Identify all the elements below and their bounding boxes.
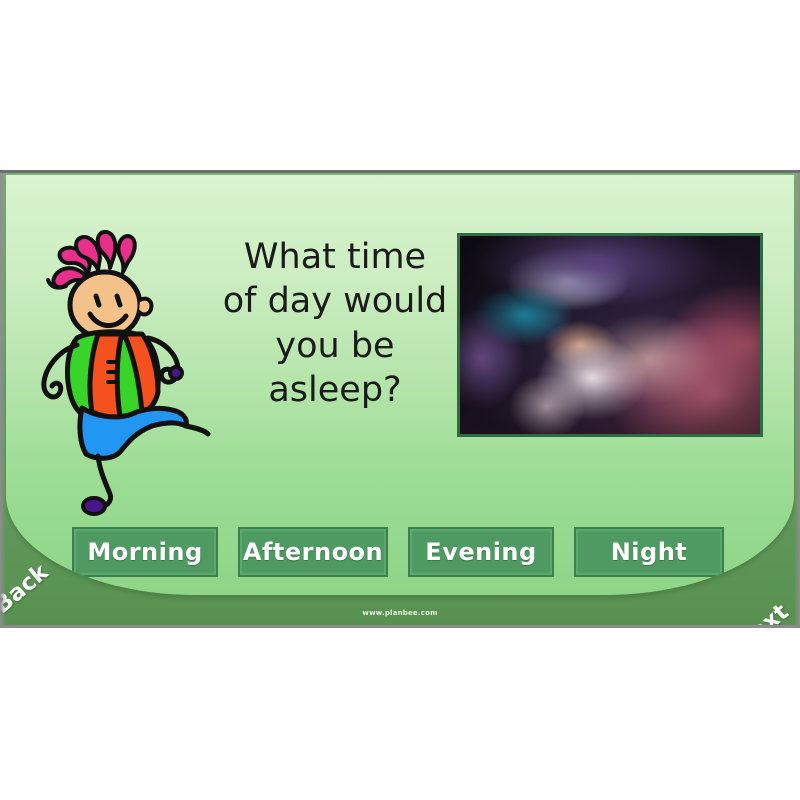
answer-options: Morning Afternoon Evening Night: [6, 527, 794, 579]
child-sleeping-photo: [457, 233, 763, 437]
answer-button-morning[interactable]: Morning: [72, 527, 218, 577]
question-line-2: of day would: [218, 279, 452, 323]
photo-vignette: [460, 236, 760, 434]
answer-button-afternoon[interactable]: Afternoon: [238, 527, 388, 577]
answer-button-evening[interactable]: Evening: [408, 527, 554, 577]
question-line-1: What time: [218, 235, 452, 279]
lesson-slide: What time of day would you be asleep? Mo…: [0, 170, 800, 628]
slide-content-panel: What time of day would you be asleep? Mo…: [6, 175, 794, 595]
cartoon-girl-jumping-illustration: [20, 230, 215, 520]
answer-button-night[interactable]: Night: [574, 527, 724, 577]
watermark-planbee: www.planbee.com: [0, 609, 800, 617]
screenshot-canvas: What time of day would you be asleep? Mo…: [0, 0, 800, 800]
question-line-3: you be: [218, 324, 452, 368]
question-line-4: asleep?: [218, 368, 452, 412]
question-text: What time of day would you be asleep?: [218, 235, 452, 413]
